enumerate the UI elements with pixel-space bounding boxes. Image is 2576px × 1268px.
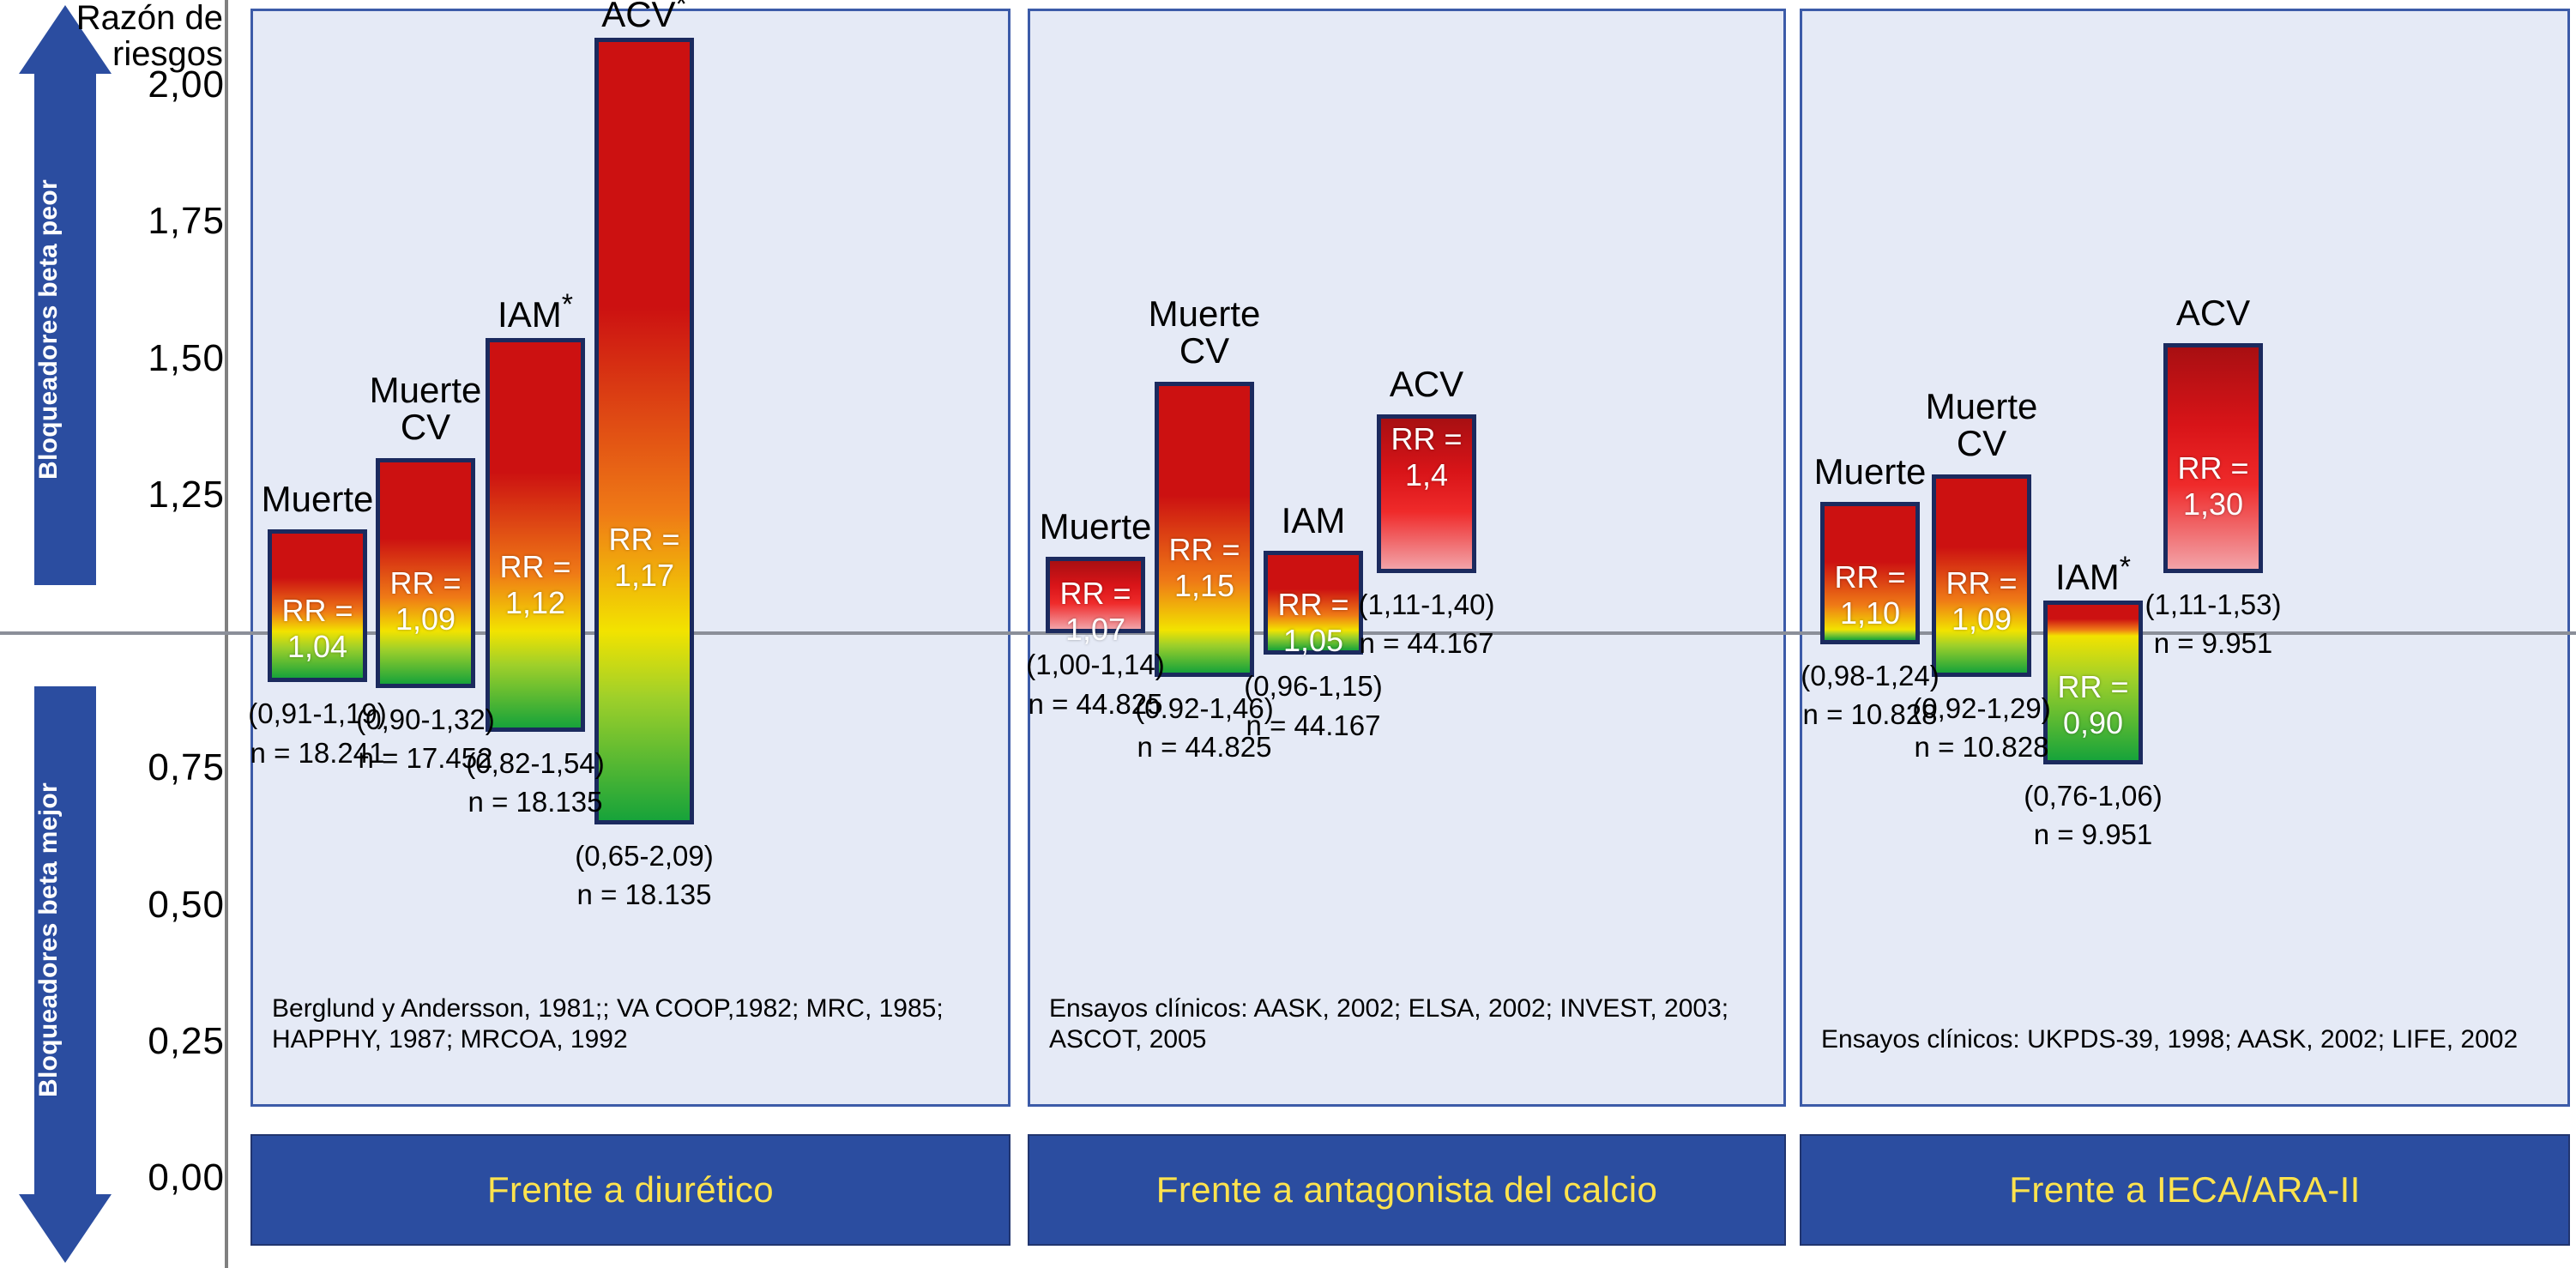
panel-source-note: Ensayos clínicos: AASK, 2002; ELSA, 2002… (1049, 993, 1771, 1056)
bar-confidence-interval: (0,65-2,09) (516, 836, 773, 876)
bar-footnote: (0,96-1,15)n = 44.167 (1185, 667, 1442, 745)
bar-title: ACV (1306, 366, 1547, 403)
y-tick-0-00: 0,00 (79, 1159, 225, 1197)
bar-rr-label: RR = 1,10 (1820, 559, 1920, 631)
bar-rr-label: RR = 0,90 (2043, 669, 2143, 741)
bar-title: MuerteCV (1084, 296, 1324, 370)
bar-title-line: CV (305, 409, 546, 446)
bar-rr-label: RR = 1,17 (594, 522, 694, 594)
bar-sample-size: n = 9.951 (1964, 815, 2222, 854)
bar-confidence-interval: (0,82-1,54) (407, 744, 664, 783)
banner-vs-acei-arb: Frente a IECA/ARA-II (1800, 1134, 2570, 1246)
bar-confidence-interval: (0,76-1,06) (1964, 776, 2222, 816)
banner-vs-diuretic: Frente a diurético (250, 1134, 1010, 1246)
y-tick-0-50: 0,50 (79, 886, 225, 924)
bar-title-line: Muerte (197, 481, 437, 518)
bar-title: Muerte (197, 481, 437, 518)
bar-footnote: (0,76-1,06)n = 9.951 (1964, 776, 2222, 854)
bar-sample-size: n = 44.167 (1185, 706, 1442, 746)
banner-label: Frente a antagonista del calcio (1156, 1169, 1657, 1211)
bar-rr-label: RR = 1,15 (1155, 532, 1254, 604)
bar-rr-label: RR = 1,07 (1046, 576, 1145, 648)
bar-rr-label: RR = 1,09 (1932, 565, 2031, 637)
bar-confidence-interval: (0,96-1,15) (1185, 667, 1442, 706)
panel-source-note: Ensayos clínicos: UKPDS-39, 1998; AASK, … (1821, 1024, 2555, 1056)
bar-rr-label: RR = 1,04 (268, 593, 367, 665)
bar-rr-label: RR = 1,09 (376, 565, 475, 637)
bar-title: IAM* (415, 290, 655, 334)
banner-vs-calcium-antagonist: Frente a antagonista del calcio (1028, 1134, 1786, 1246)
bar-sample-size: n = 18.135 (407, 782, 664, 822)
y-tick-1-75: 1,75 (79, 202, 225, 240)
bar-title-line: ACV (2093, 295, 2333, 332)
bar-rr-label: RR = 1,05 (1264, 587, 1363, 659)
significance-asterisk: * (676, 0, 687, 21)
y-tick-2-00: 2,00 (79, 66, 225, 104)
bar-rr-label: RR = 1,30 (2163, 450, 2263, 522)
bar-confidence-interval: (1,11-1,53) (2084, 585, 2342, 625)
bar-title-line: ACV* (524, 0, 764, 33)
bar-title-line: CV (1861, 426, 2102, 462)
bar-title-line: CV (1084, 333, 1324, 370)
y-axis-title-line1: Razón de (17, 0, 223, 36)
bar-title: MuerteCV (1861, 389, 2102, 462)
bar-footnote: (0,82-1,54)n = 18.135 (407, 744, 664, 822)
significance-asterisk: * (2120, 551, 2131, 583)
bar-title-line: Muerte (1861, 389, 2102, 426)
y-tick-0-25: 0,25 (79, 1023, 225, 1060)
panel-source-note: Berglund y Andersson, 1981;; VA COOP,198… (272, 993, 996, 1056)
bar-rr-label: RR = 1,12 (486, 549, 585, 621)
arrow-down-head (19, 1194, 112, 1263)
banner-label: Frente a diurético (487, 1169, 774, 1211)
bar-title: MuerteCV (305, 372, 546, 446)
y-axis-title: Razón de riesgos (17, 0, 223, 73)
bar-title: ACV* (524, 0, 764, 33)
bar-rr-label: RR = 1,4 (1377, 421, 1476, 493)
bar-footnote: (1,11-1,53)n = 9.951 (2084, 585, 2342, 663)
bar-title: ACV (2093, 295, 2333, 332)
y-tick-1-50: 1,50 (79, 340, 225, 377)
bar-title-line: IAM* (415, 290, 655, 334)
significance-asterisk: * (562, 288, 573, 321)
bar-sample-size: n = 9.951 (2084, 624, 2342, 663)
bar-footnote: (0,65-2,09)n = 18.135 (516, 836, 773, 915)
bar-title-line: ACV (1306, 366, 1547, 403)
banner-label: Frente a IECA/ARA-II (2009, 1169, 2360, 1211)
bar-acv[interactable] (594, 38, 694, 824)
bar-title-line: Muerte (1084, 296, 1324, 333)
bar-title-line: Muerte (305, 372, 546, 409)
bar-sample-size: n = 18.135 (516, 875, 773, 915)
bar-confidence-interval: (0,90-1,32) (297, 700, 554, 740)
